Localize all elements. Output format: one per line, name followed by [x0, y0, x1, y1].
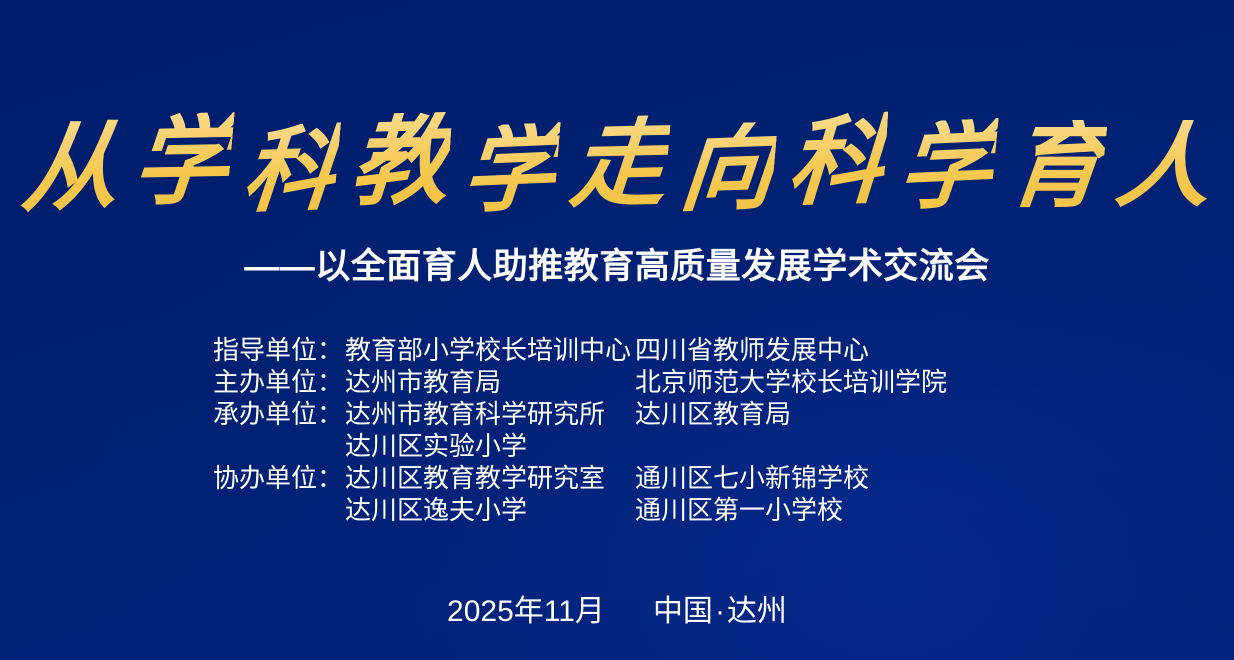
- organization-row: 达川区逸夫小学 通川区第一小学校: [213, 494, 1013, 526]
- footer: 2025年11月 中国·达州: [0, 586, 1234, 630]
- title-char: 向: [677, 121, 779, 217]
- organization-row: 协办单位： 达川区教育教学研究室 通川区七小新锦学校: [213, 462, 1013, 494]
- organization-primary: 教育部小学校长培训中心: [345, 334, 635, 366]
- organization-label: 指导单位：: [213, 334, 345, 366]
- title-char: 学: [129, 112, 235, 211]
- footer-separator: ·: [713, 595, 727, 628]
- title-char: 从: [19, 118, 123, 218]
- organization-secondary: 通川区七小新锦学校: [635, 462, 1013, 494]
- organization-row: 主办单位： 达州市教育局 北京师范大学校长培训学院: [213, 366, 1013, 398]
- title-char: 学: [895, 118, 1000, 217]
- organization-secondary: 北京师范大学校长培训学院: [635, 366, 1013, 398]
- title-char: 科: [240, 122, 342, 218]
- organization-row: 指导单位： 教育部小学校长培训中心 四川省教师发展中心: [213, 334, 1013, 366]
- poster-canvas: 从 学 科 教 学 走 向 科 学 育 人 ——以全面育人助推教育高质量发展学术…: [0, 0, 1234, 660]
- organization-label: 承办单位：: [213, 398, 345, 430]
- organization-primary: 达川区教育教学研究室: [345, 462, 635, 494]
- organization-row: 承办单位： 达州市教育科学研究所 达川区教育局: [213, 398, 1013, 430]
- organization-label: 协办单位：: [213, 462, 345, 494]
- title-char: 走: [568, 115, 672, 213]
- organization-primary: 达州市教育科学研究所: [345, 398, 635, 430]
- subtitle: ——以全面育人助推教育高质量发展学术交流会: [0, 246, 1234, 288]
- footer-date: 2025年11月: [447, 586, 605, 630]
- main-title: 从 学 科 教 学 走 向 科 学 育 人: [0, 96, 1234, 234]
- title-char: 人: [1112, 120, 1216, 214]
- title-char: 科: [786, 112, 889, 212]
- organization-secondary: 达川区教育局: [635, 398, 1013, 430]
- footer-location: 中国·达州: [653, 586, 787, 630]
- title-char: 学: [459, 122, 561, 220]
- title-char: 教: [348, 112, 452, 212]
- organization-primary: 达川区实验小学: [345, 430, 635, 462]
- organization-secondary: 四川省教师发展中心: [635, 334, 1013, 366]
- organizations-block: 指导单位： 教育部小学校长培训中心 四川省教师发展中心 主办单位： 达州市教育局…: [213, 334, 1013, 526]
- organization-secondary: 通川区第一小学校: [635, 494, 1013, 526]
- footer-country: 中国: [653, 595, 713, 628]
- footer-city: 达州: [727, 595, 787, 628]
- organization-label: 主办单位：: [213, 366, 345, 398]
- main-title-text: 从 学 科 教 学 走 向 科 学 育 人: [23, 116, 1210, 214]
- organization-row: 达川区实验小学: [213, 430, 1013, 462]
- organization-primary: 达川区逸夫小学: [345, 494, 635, 526]
- organization-primary: 达州市教育局: [345, 366, 635, 398]
- title-char: 育: [1004, 120, 1108, 214]
